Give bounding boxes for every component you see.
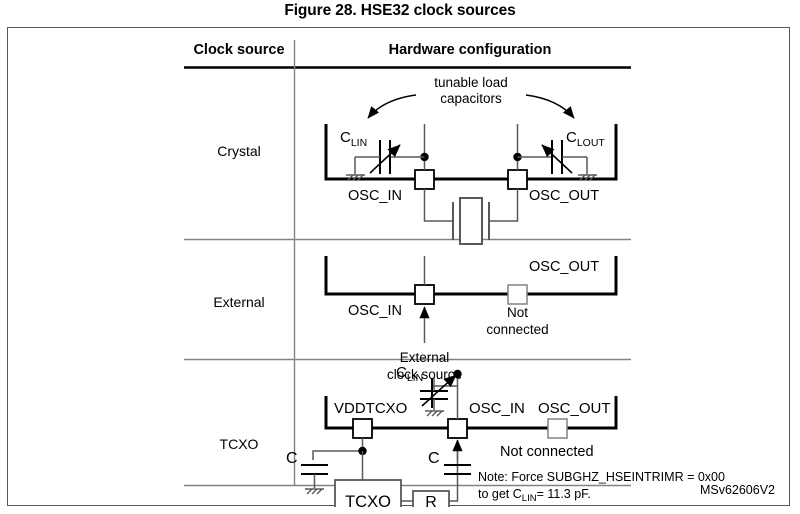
label-c-left-tcxo: C xyxy=(286,450,298,467)
label-external-source-line1: External xyxy=(400,350,450,365)
tunable-arrow-right xyxy=(526,95,574,118)
header-clock-source: Clock source xyxy=(193,42,284,58)
capacitor-c-left-tcxo xyxy=(301,465,328,494)
label-osc-in-tcxo: OSC_IN xyxy=(469,400,525,417)
label-osc-out-external: OSC_OUT xyxy=(529,259,599,275)
row-label-tcxo: TCXO xyxy=(220,436,259,452)
label-vddtcxo: VDDTCXO xyxy=(334,400,407,417)
pad-osc-out-crystal xyxy=(508,170,527,189)
label-osc-out-tcxo: OSC_OUT xyxy=(538,400,611,417)
figure-frame: Clock source Hardware configuration Crys… xyxy=(7,27,790,506)
crystal-circuit: tunable load capacitors xyxy=(326,75,616,244)
label-c-mid-tcxo: C xyxy=(428,450,440,467)
label-osc-in-external: OSC_IN xyxy=(348,303,402,319)
label-block-resistor: R xyxy=(425,494,437,507)
figure-title: Figure 28. HSE32 clock sources xyxy=(0,2,800,20)
figure-id-code: MSv62606V2 xyxy=(700,483,775,497)
external-clock-circuit: OSC_IN OSC_OUT Not connected External cl… xyxy=(326,256,616,382)
label-osc-in-crystal: OSC_IN xyxy=(348,188,402,204)
pad-osc-in-external xyxy=(415,285,434,304)
note-line2: to get CLIN= 11.3 pF. xyxy=(478,487,591,504)
header-hardware-configuration: Hardware configuration xyxy=(389,42,552,58)
pad-osc-in-crystal xyxy=(415,170,434,189)
label-block-tcxo: TCXO xyxy=(345,493,391,507)
pad-osc-in-tcxo xyxy=(448,419,467,438)
ground-symbol-clin-tcxo xyxy=(425,411,444,416)
crystal-resonator-body xyxy=(460,198,482,244)
tunable-load-label-line2: capacitors xyxy=(440,91,502,106)
tunable-load-label-line1: tunable load xyxy=(434,75,508,90)
label-clin-crystal: CLIN xyxy=(340,129,367,149)
ground-symbol-c-left xyxy=(305,489,324,494)
hse32-clock-sources-diagram: Clock source Hardware configuration Crys… xyxy=(8,28,791,507)
pad-osc-out-tcxo xyxy=(548,419,567,438)
row-label-crystal: Crystal xyxy=(217,143,261,159)
label-osc-out-crystal: OSC_OUT xyxy=(529,188,599,204)
pad-osc-out-external xyxy=(508,285,527,304)
tunable-arrow-left xyxy=(368,95,416,118)
label-not-connected-external-line1: Not xyxy=(507,305,528,320)
note-line1: Note: Force SUBGHZ_HSEINTRIMR = 0x00 xyxy=(478,470,725,484)
label-not-connected-tcxo: Not connected xyxy=(500,444,594,460)
label-not-connected-external-line2: connected xyxy=(486,322,548,337)
label-clout-crystal: CLOUT xyxy=(566,129,605,149)
row-label-external: External xyxy=(213,294,264,310)
pad-vddtcxo xyxy=(353,419,372,438)
